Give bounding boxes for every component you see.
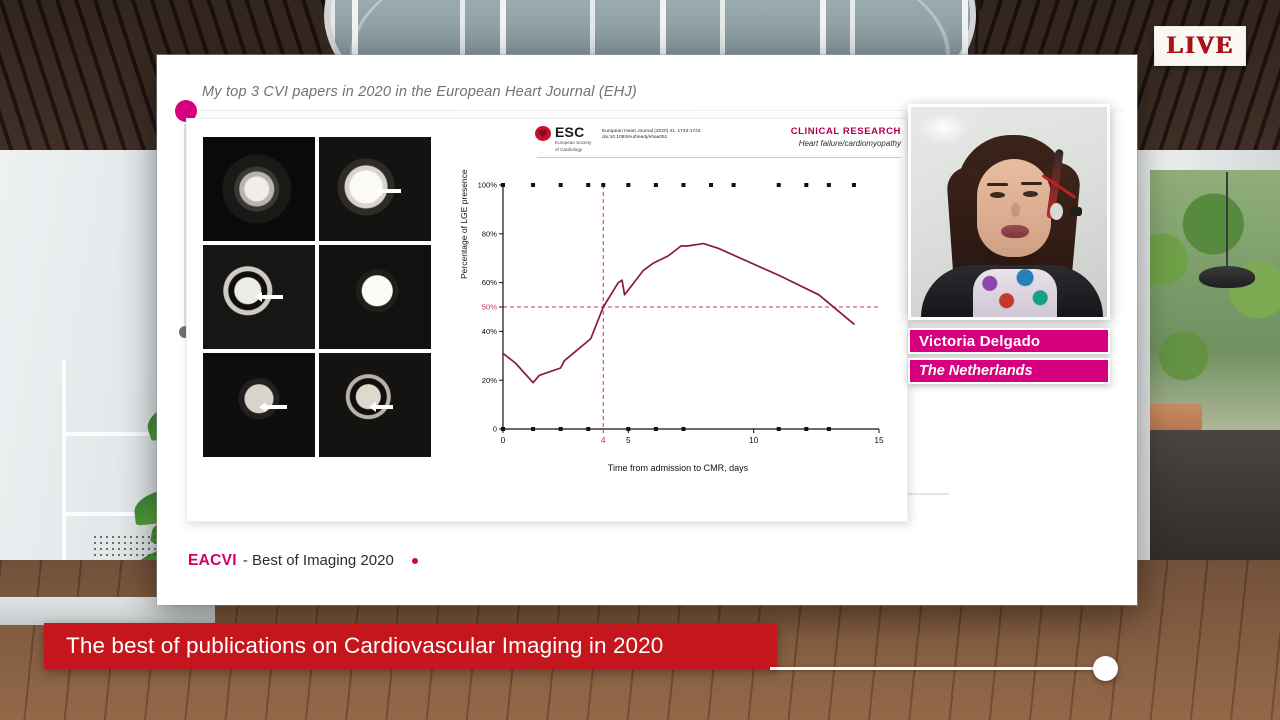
webcam-lightspot [917, 111, 971, 145]
journal-citation-line2: doi:10.1093/eurheartj/ehaa051 [602, 135, 700, 141]
speaker-video-panel[interactable] [908, 104, 1110, 320]
progress-line[interactable] [770, 667, 1108, 670]
journal-section-kicker: CLINICAL RESEARCH [791, 126, 901, 137]
journal-figure-block: ESC European Society of Cardiology Europ… [186, 118, 908, 522]
pendant-lamp-cord [1226, 172, 1228, 268]
journal-section-topic: Heart failure/cardiomyopathy [791, 139, 901, 148]
svg-text:0: 0 [501, 435, 506, 445]
speaker-eye-right [1023, 191, 1038, 197]
svg-text:60%: 60% [482, 278, 497, 287]
chart-x-axis-label: Time from admission to CMR, days [463, 463, 893, 473]
mri-panel-a: A [203, 137, 315, 241]
lge-line-chart: Percentage of LGE presence 020%40%50%60%… [463, 171, 893, 471]
mri-arrow-icon [261, 295, 283, 299]
speaker-brow-right [1021, 182, 1042, 185]
speaker-mouth [1001, 225, 1029, 238]
slide-footer-text: - Best of Imaging 2020 [243, 552, 394, 569]
chart-plot-area: 020%40%50%60%80%100%0451015 [463, 171, 893, 459]
headset-earcup [1050, 203, 1063, 220]
heart-icon [535, 126, 551, 141]
mri-arrow-icon [381, 189, 401, 193]
svg-text:100%: 100% [478, 181, 498, 190]
svg-text:10: 10 [749, 435, 759, 445]
mri-panel-e: E [203, 353, 315, 457]
mri-panel-d: D [319, 245, 431, 349]
esc-acronym: ESC [555, 125, 591, 139]
svg-text:80%: 80% [482, 229, 497, 238]
journal-section: CLINICAL RESEARCH Heart failure/cardiomy… [791, 126, 901, 148]
lounge-sofa [1130, 430, 1280, 560]
mri-panel-c: C [203, 245, 315, 349]
esc-logo: ESC European Society of Cardiology [535, 125, 591, 152]
svg-text:15: 15 [874, 435, 884, 445]
svg-text:5: 5 [626, 435, 631, 445]
speaker-brow-left [987, 183, 1008, 186]
speaker-scarf [973, 269, 1057, 317]
eacvi-brand: EACVI [188, 552, 237, 570]
mri-arrow-icon [265, 405, 287, 409]
slide-footer-dot [412, 558, 418, 564]
speaker-name-plate: Victoria Delgado [908, 328, 1110, 354]
lower-third-title: The best of publications on Cardiovascul… [66, 633, 663, 659]
esc-society-line1: European Society [555, 140, 591, 146]
speaker-name: Victoria Delgado [919, 333, 1040, 350]
live-badge: LIVE [1154, 26, 1246, 66]
speaker-nose [1011, 203, 1020, 217]
mri-arrow-icon [375, 405, 393, 409]
mri-figure-grid: A B C D [203, 137, 431, 457]
esc-society-line2: of Cardiology [555, 147, 591, 153]
svg-text:4: 4 [601, 435, 606, 445]
speaker-country-plate: The Netherlands [908, 358, 1110, 384]
mri-image [203, 137, 315, 241]
svg-text:20%: 20% [482, 376, 497, 385]
svg-text:50%: 50% [482, 303, 497, 312]
pendant-lamp-icon [1199, 266, 1255, 288]
progress-knob[interactable] [1093, 656, 1118, 681]
headset-mic-icon [1071, 207, 1082, 216]
mri-panel-b: B [319, 137, 431, 241]
svg-text:40%: 40% [482, 327, 497, 336]
broadcast-stage: LIVE My top 3 CVI papers in 2020 in the … [0, 0, 1280, 720]
mri-image [319, 245, 431, 349]
speaker-eye-left [990, 192, 1005, 198]
live-badge-label: LIVE [1166, 32, 1233, 60]
slide-footer: EACVI - Best of Imaging 2020 [188, 552, 418, 570]
journal-citation: European Heart Journal (2020) 41, 1733-1… [602, 129, 700, 142]
lower-third-banner: The best of publications on Cardiovascul… [44, 623, 777, 669]
chart-y-axis-label: Percentage of LGE presence [459, 169, 469, 279]
slide-title: My top 3 CVI papers in 2020 in the Europ… [202, 84, 637, 100]
journal-header-rule [537, 157, 901, 158]
svg-text:0: 0 [493, 425, 497, 434]
speaker-country: The Netherlands [919, 363, 1033, 379]
mri-panel-f: F [319, 353, 431, 457]
